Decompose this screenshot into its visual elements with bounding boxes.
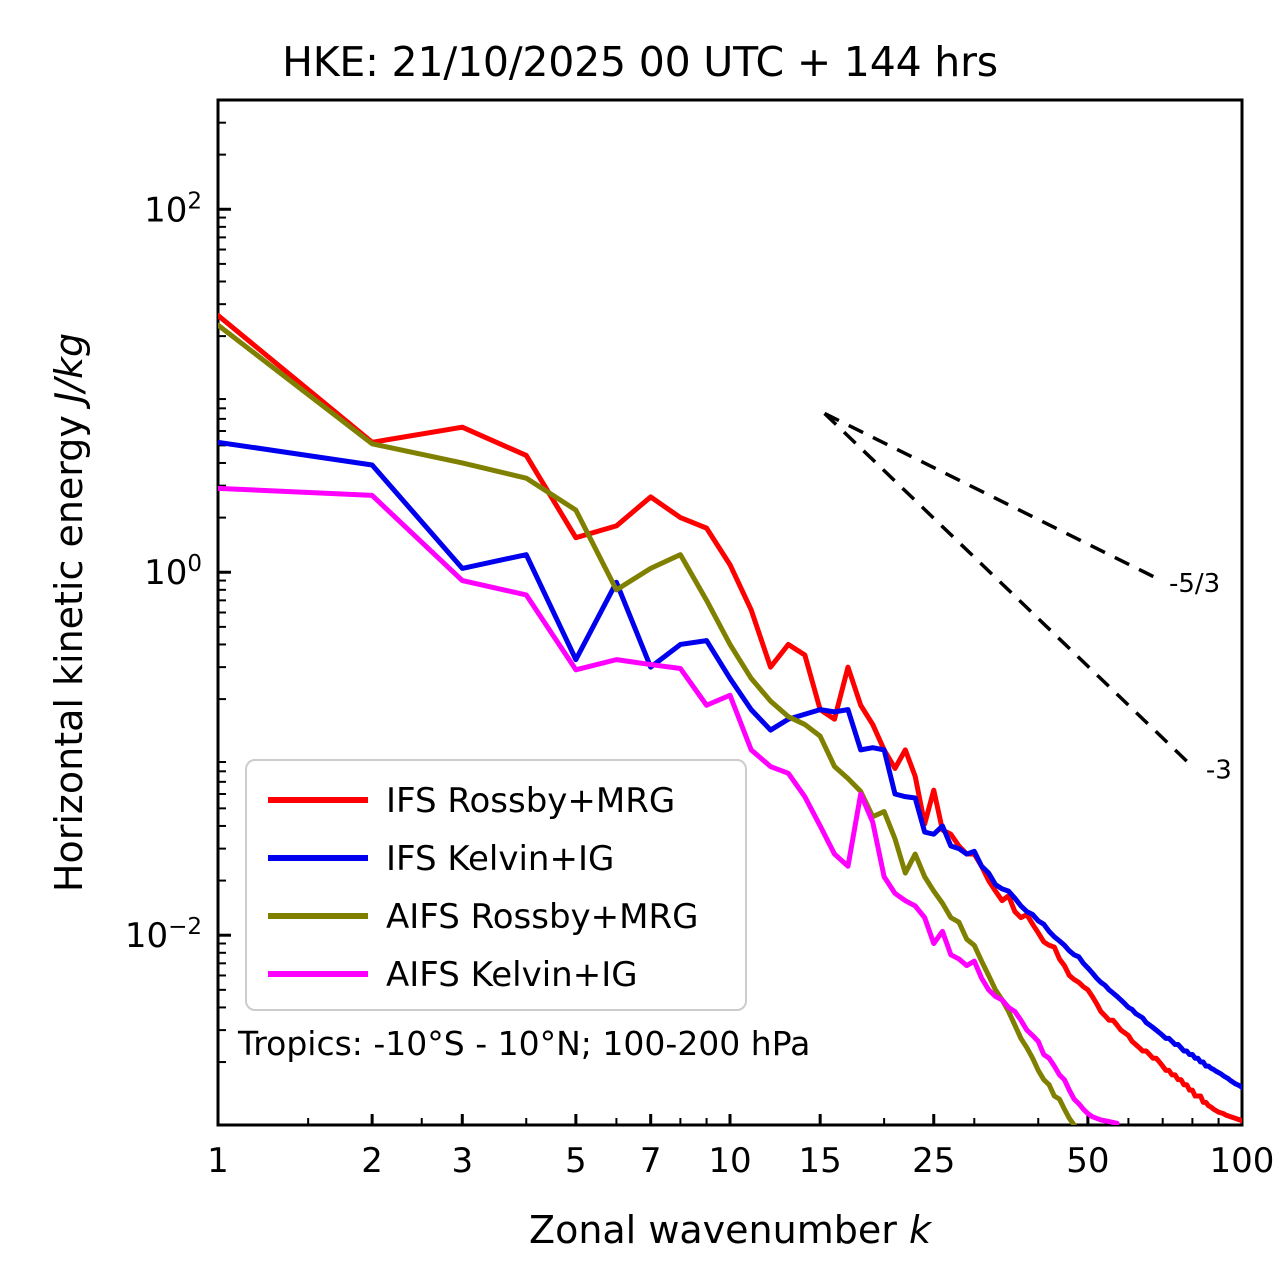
reference-line--5/3 <box>825 413 1157 578</box>
slope-label-53: -5/3 <box>1169 569 1220 599</box>
x-tick-label-100: 100 <box>1210 1141 1275 1181</box>
slope-label-3: -3 <box>1206 756 1232 786</box>
tropics-annotation: Tropics: -10°S - 10°N; 100-200 hPa <box>237 1024 810 1063</box>
x-tick-label-2: 2 <box>361 1141 383 1181</box>
y-tick-label: 102 <box>144 188 202 230</box>
y-tick-label: 10−2 <box>125 914 202 956</box>
x-tick-label-50: 50 <box>1066 1141 1109 1181</box>
figure-container: HKE: 21/10/2025 00 UTC + 144 hrs 1235710… <box>0 0 1280 1288</box>
y-tick-label: 100 <box>144 551 202 593</box>
x-tick-label-3: 3 <box>451 1141 473 1181</box>
x-tick-label-1: 1 <box>207 1141 229 1181</box>
x-tick-label-10: 10 <box>708 1141 751 1181</box>
legend-label-3: AIFS Kelvin+IG <box>386 955 638 995</box>
legend-label-1: IFS Kelvin+IG <box>386 839 614 879</box>
x-axis-label: Zonal wavenumber k <box>529 1208 933 1252</box>
legend-label-0: IFS Rossby+MRG <box>386 781 675 821</box>
x-tick-label-25: 25 <box>912 1141 955 1181</box>
x-tick-label-5: 5 <box>565 1141 587 1181</box>
y-axis-label: Horizontal kinetic energy J/kg <box>47 333 91 892</box>
x-tick-label-15: 15 <box>799 1141 842 1181</box>
legend-label-2: AIFS Rossby+MRG <box>386 897 698 937</box>
x-tick-label-7: 7 <box>640 1141 662 1181</box>
plot-area: 123571015255010010210010−2-5/3-3IFS Ross… <box>0 0 1280 1288</box>
reference-line--3 <box>825 413 1193 766</box>
